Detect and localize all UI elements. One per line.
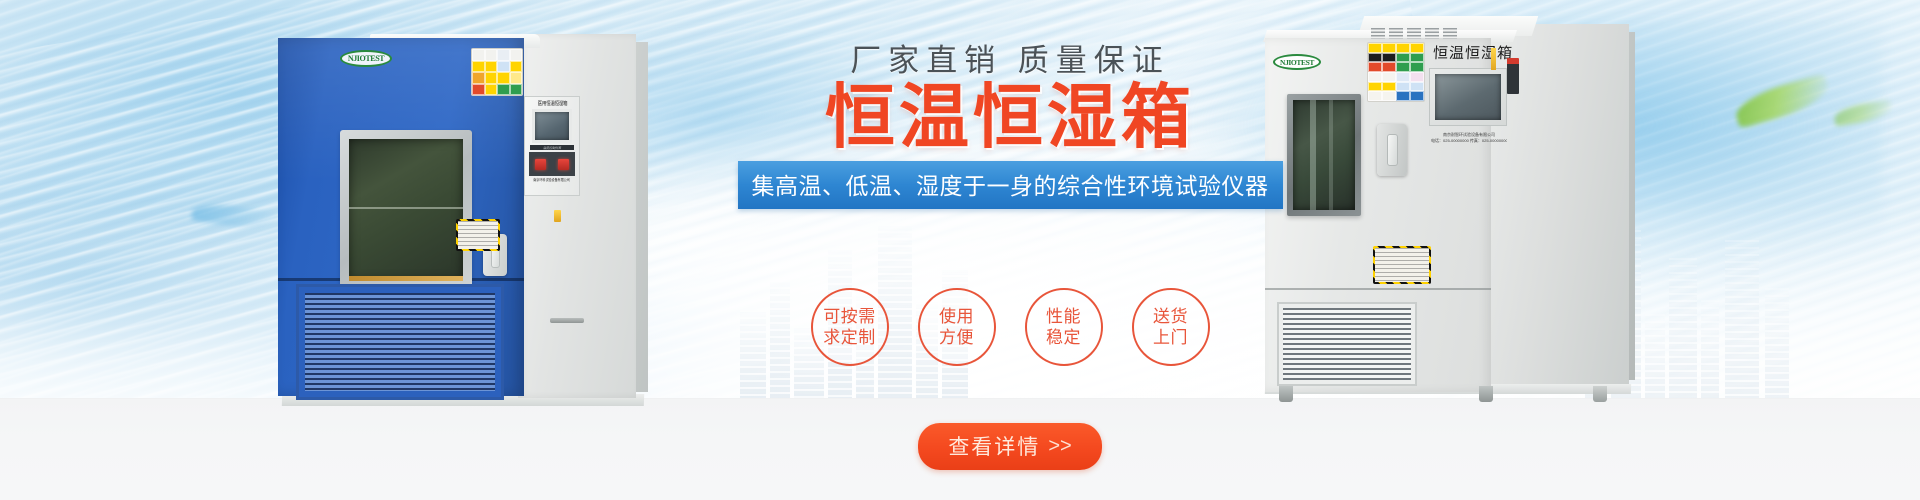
hazard-striped-label [456,219,500,251]
hmi-caption-line2: 电话：025-00000000 传真：025-00000000 [1431,138,1507,144]
cta-container: 查看详情 >> [700,423,1320,470]
product-name-label: 恒温恒湿箱 [1432,42,1513,63]
product-image-right-chamber: NJIOTEST [1265,6,1637,400]
brand-logo: NJIOTEST [340,50,392,67]
feature-line-2: 上门 [1153,327,1188,348]
feature-line-1: 性能 [1046,306,1081,327]
feature-circle-list: 可按需 求定制 使用 方便 性能 稳定 送货 上门 [700,288,1320,366]
control-panel-strip-label: 温度控制仪表 [543,146,561,150]
hazard-striped-label [1373,246,1431,284]
side-drawer-handle [550,318,584,323]
banner-eyebrow: 厂家直销 质量保证 [700,44,1320,78]
chamber-foot [1279,386,1293,402]
vent-grille [296,284,504,400]
feature-line-1: 送货 [1153,306,1188,327]
control-panel[interactable]: 医用恒温恒湿箱 温度控制仪表 南京环科试验设备有限公司 [524,96,580,196]
promo-banner: NJIOTEST 医用恒温恒湿箱 [0,0,1920,500]
chamber-foot [1479,386,1493,402]
feature-line-2: 求定制 [823,327,876,348]
indicator-light-heat [535,159,546,170]
warning-label-sticker [471,48,523,96]
side-indicator-strip [1507,58,1519,94]
feature-circle-custom[interactable]: 可按需 求定制 [811,288,889,366]
hmi-touchscreen[interactable] [1429,68,1507,126]
chamber-foot [1593,386,1607,402]
control-panel-buttons[interactable] [529,152,575,176]
banner-copy: 厂家直销 质量保证 恒温恒湿箱 集高温、低温、湿度于一身的综合性环境试验仪器 [700,44,1320,209]
warning-label-sticker [1367,42,1425,102]
window-glass [349,139,463,281]
feature-circle-stable[interactable]: 性能 稳定 [1025,288,1103,366]
hmi-caption: 南京耐智环试验设备有限公司 电话：025-00000000 传真：025-000… [1431,132,1507,144]
top-louvers [1371,28,1457,39]
feature-line-2: 稳定 [1046,327,1081,348]
control-panel-strip: 温度控制仪表 [530,145,574,150]
feature-circle-easy-use[interactable]: 使用 方便 [918,288,996,366]
feature-circle-delivery[interactable]: 送货 上门 [1132,288,1210,366]
chamber-side-panel [518,34,636,398]
control-panel-display[interactable] [532,109,572,143]
indicator-light-power [558,159,569,170]
chevron-right-icon: >> [1048,435,1071,458]
feature-line-1: 可按需 [823,306,876,327]
cta-label: 查看详情 [948,431,1040,461]
banner-headline: 恒温恒湿箱 [700,82,1320,152]
feature-line-2: 方便 [939,327,974,348]
control-panel-title: 医用恒温恒湿箱 [537,100,567,107]
feature-line-1: 使用 [939,306,974,327]
view-details-button[interactable]: 查看详情 >> [918,423,1101,470]
banner-subtitle-bar: 集高温、低温、湿度于一身的综合性环境试验仪器 [738,161,1283,209]
control-panel-footer: 南京环科试验设备有限公司 [534,178,571,183]
yellow-tag-icon [1491,48,1496,70]
product-image-left-chamber: NJIOTEST 医用恒温恒湿箱 [278,34,648,400]
chamber-view-window [340,130,472,290]
yellow-tag-icon [554,210,561,222]
door-handle [1377,124,1407,176]
